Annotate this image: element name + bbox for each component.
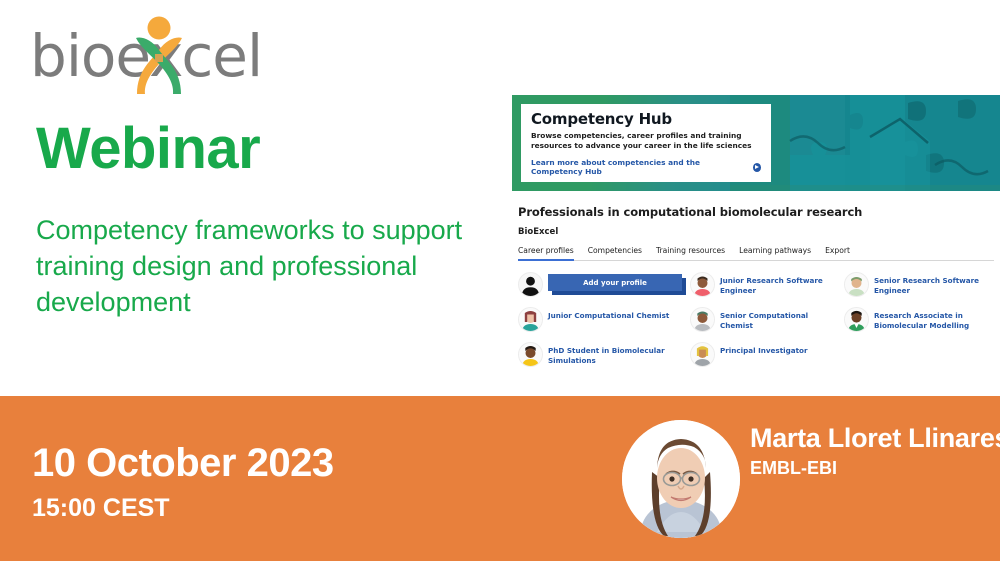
webinar-time: 15:00 CEST [32, 494, 170, 523]
avatar-icon [844, 272, 869, 297]
profile-label: Research Associate in Biomolecular Model… [874, 307, 994, 330]
avatar-icon [844, 307, 869, 332]
profile-principal-investigator[interactable]: Principal Investigator [690, 342, 840, 368]
webinar-title: Competency frameworks to support trainin… [36, 212, 476, 320]
tab-bar: Career profiles Competencies Training re… [518, 246, 994, 261]
profile-senior-computational-chemist[interactable]: Senior Computational Chemist [690, 307, 840, 333]
profile-label: Junior Computational Chemist [548, 307, 669, 321]
tab-training-resources[interactable]: Training resources [656, 246, 725, 260]
competency-hub-screenshot: Competency Hub Browse competencies, care… [512, 95, 1000, 375]
webinar-kicker: Webinar [36, 118, 260, 180]
speaker-organisation: EMBL-EBI [750, 458, 837, 479]
avatar-icon [690, 342, 715, 367]
avatar-icon [518, 307, 543, 332]
speaker-headshot-photo [622, 420, 740, 538]
arrow-right-circle-icon [753, 163, 761, 172]
webinar-poster: bioexcel Webinar Competency frameworks t… [0, 0, 1000, 561]
profile-label: Principal Investigator [720, 342, 808, 356]
avatar-icon [690, 307, 715, 332]
profile-label: Senior Research Software Engineer [874, 272, 994, 295]
career-profile-grid: Add your profile Junior Research Softwar… [518, 272, 994, 368]
profile-research-associate-biomolecular-modelling[interactable]: Research Associate in Biomolecular Model… [844, 307, 994, 333]
profile-label: Junior Research Software Engineer [720, 272, 840, 295]
tab-competencies[interactable]: Competencies [588, 246, 642, 260]
profile-junior-computational-chemist[interactable]: Junior Computational Chemist [518, 307, 686, 333]
bioexcel-logo: bioexcel [30, 14, 280, 94]
competency-hub-title: Competency Hub [531, 111, 761, 128]
profile-phd-student-biomolecular-simulations[interactable]: PhD Student in Biomolecular Simulations [518, 342, 686, 368]
profile-senior-research-software-engineer[interactable]: Senior Research Software Engineer [844, 272, 994, 298]
competency-hub-description: Browse competencies, career profiles and… [531, 131, 761, 151]
add-your-profile-button[interactable]: Add your profile [548, 274, 682, 291]
competency-hub-learn-more-label: Learn more about competencies and the Co… [531, 158, 750, 176]
profile-label: PhD Student in Biomolecular Simulations [548, 342, 686, 365]
avatar-icon [690, 272, 715, 297]
add-profile-button-label: Add your profile [583, 279, 647, 287]
empty-cell [844, 342, 994, 368]
page-subtitle: BioExcel [518, 227, 994, 237]
speaker-name: Marta Lloret Llinares [750, 423, 1000, 454]
tab-career-profiles[interactable]: Career profiles [518, 246, 574, 261]
profile-label: Senior Computational Chemist [720, 307, 840, 330]
profile-junior-research-software-engineer[interactable]: Junior Research Software Engineer [690, 272, 840, 298]
add-profile-cell: Add your profile [518, 272, 686, 298]
avatar-icon [518, 342, 543, 367]
competency-hub-banner: Competency Hub Browse competencies, care… [512, 95, 1000, 191]
competency-hub-learn-more-link[interactable]: Learn more about competencies and the Co… [531, 158, 761, 176]
competency-hub-card: Competency Hub Browse competencies, care… [521, 104, 771, 182]
tab-export[interactable]: Export [825, 246, 850, 260]
bioexcel-person-ribbon-icon [128, 14, 190, 96]
page-title: Professionals in computational biomolecu… [518, 205, 994, 219]
competency-hub-body: Professionals in computational biomolecu… [512, 191, 1000, 375]
generic-person-avatar-icon [518, 272, 543, 297]
webinar-date: 10 October 2023 [32, 441, 334, 486]
tab-learning-pathways[interactable]: Learning pathways [739, 246, 811, 260]
